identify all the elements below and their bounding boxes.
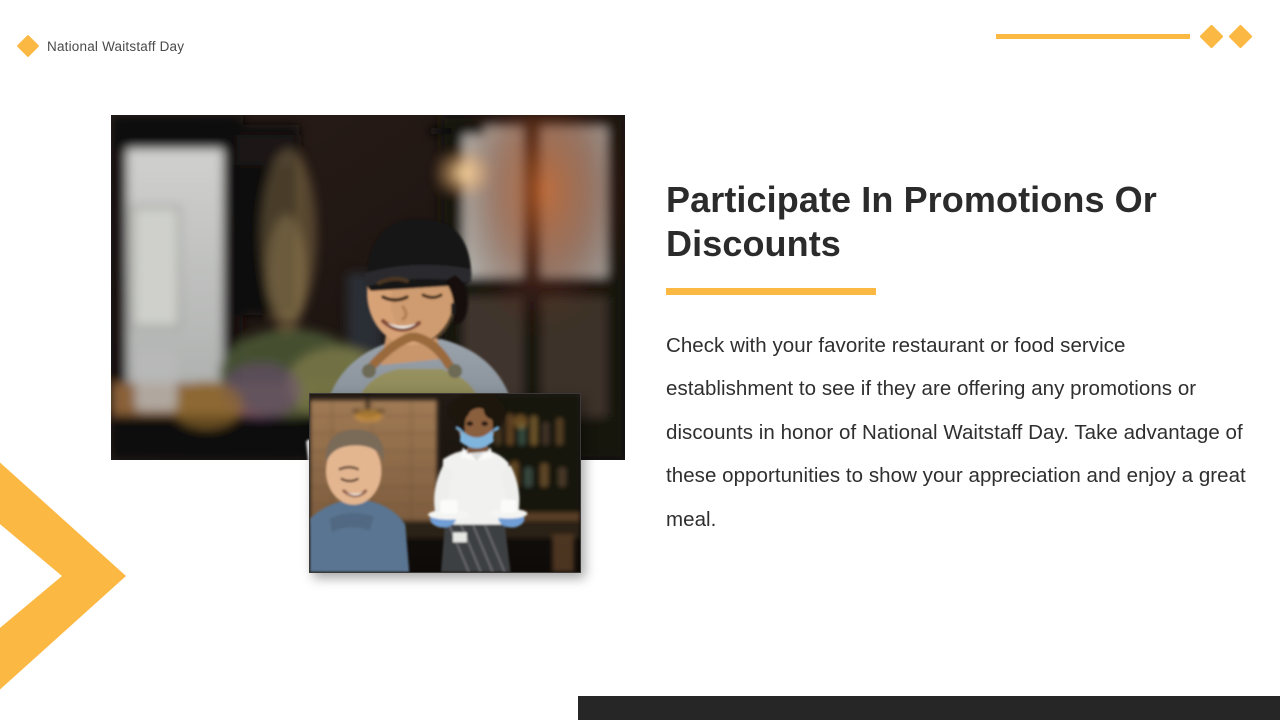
diamond-icon: [17, 35, 40, 58]
photo-masked-waitress-serving-coffee: [309, 393, 581, 573]
bottom-accent-bar: [578, 696, 1280, 720]
title-underline-accent: [666, 288, 876, 295]
top-right-decoration: [996, 28, 1249, 45]
horizontal-rule-icon: [996, 34, 1190, 39]
diamond-icon-1: [1199, 24, 1223, 48]
brand-label: National Waitstaff Day: [47, 39, 184, 54]
chevron-right-icon: [0, 430, 126, 720]
page-title: Participate In Promotions Or Discounts: [666, 178, 1258, 266]
diamond-icon-2: [1228, 24, 1252, 48]
slide-canvas: National Waitstaff Day: [0, 0, 1280, 720]
body-paragraph: Check with your favorite restaurant or f…: [666, 324, 1256, 542]
breadcrumb: National Waitstaff Day: [20, 38, 184, 54]
text-column: Participate In Promotions Or Discounts C…: [666, 178, 1258, 541]
